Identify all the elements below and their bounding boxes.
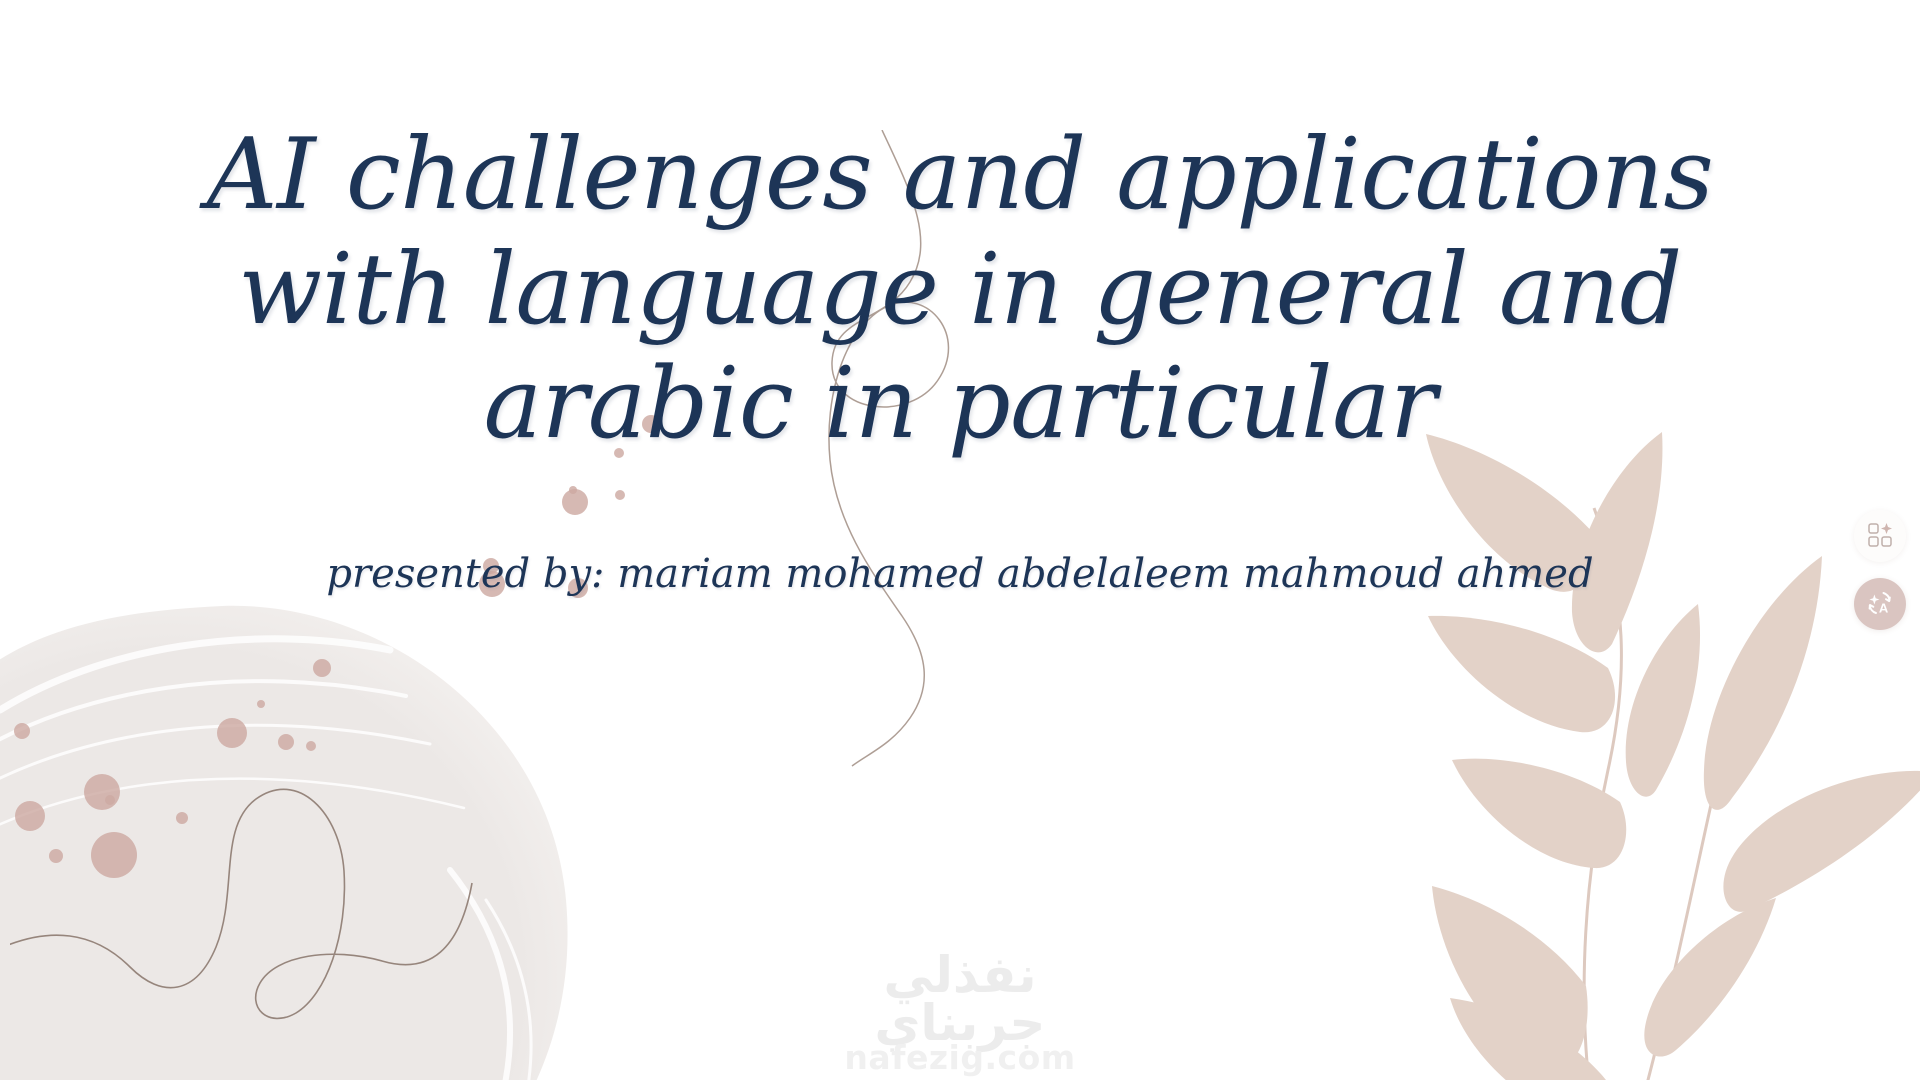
translate-button[interactable]: A	[1854, 578, 1906, 630]
sparkle-grid-icon	[1867, 522, 1893, 551]
floating-tools: A	[1854, 510, 1906, 630]
slide-title: AI challenges and applications with lang…	[0, 118, 1920, 462]
slide-subtitle-presenter: presented by: mariam mohamed abdelaleem …	[326, 548, 1593, 600]
presentation-slide: AI challenges and applications with lang…	[0, 0, 1920, 1080]
site-watermark: نفذلي جربناي nafezig.com	[800, 952, 1120, 1074]
designer-button[interactable]	[1854, 510, 1906, 562]
watermark-domain: nafezig.com	[800, 1041, 1120, 1074]
svg-text:A: A	[1879, 600, 1889, 615]
watermark-arabic-line1: نفذلي	[800, 952, 1120, 1000]
slide-content: AI challenges and applications with lang…	[0, 0, 1920, 1080]
translate-sparkle-icon: A	[1865, 588, 1895, 621]
